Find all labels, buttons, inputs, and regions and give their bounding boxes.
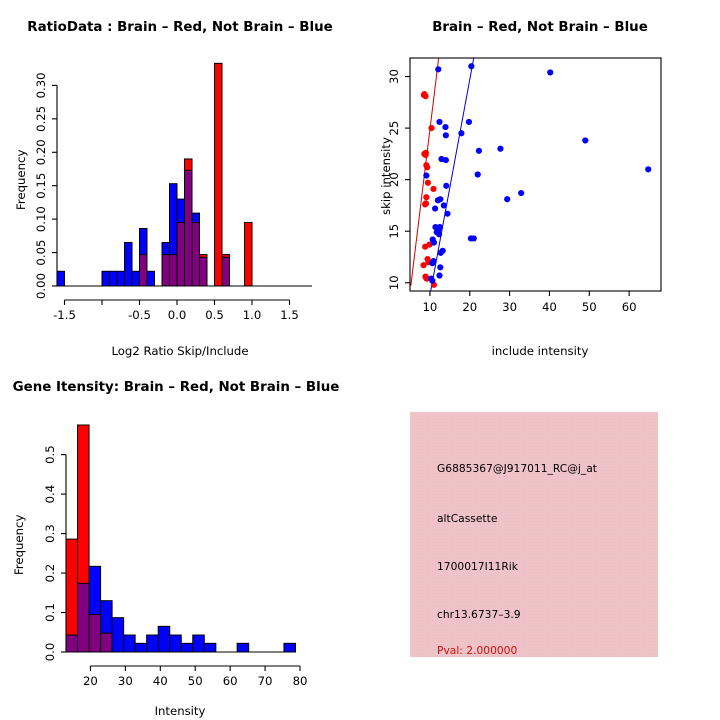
ratio-bar xyxy=(132,271,140,286)
gene-y-tick-label: 0.3 xyxy=(43,524,57,543)
ratio-bar xyxy=(117,271,125,286)
ratio-plot-area: 0.000.050.100.150.200.250.30-1.5-0.50.00… xyxy=(34,63,312,322)
ratio-bar xyxy=(57,271,65,286)
ratio-y-tick-label: 0.10 xyxy=(34,206,48,232)
scatter-xlabel: include intensity xyxy=(360,344,720,358)
scatter-point xyxy=(423,194,429,200)
locus-text: chr13.6737–3.9 xyxy=(437,608,521,621)
gene-x-tick-label: 40 xyxy=(153,674,168,688)
gene-bar xyxy=(124,635,136,652)
scatter-point xyxy=(645,166,651,172)
scatter-y-tick-label: 10 xyxy=(387,275,401,290)
scatter-ylabel: skip intensity xyxy=(379,137,393,215)
gene-x-tick-label: 20 xyxy=(83,674,98,688)
scatter-point xyxy=(497,146,503,152)
scatter-inner xyxy=(411,58,652,291)
scatter-point xyxy=(504,196,510,202)
ratio-bar-overlap xyxy=(185,170,193,286)
probe-id-text: G6885367@J917011_RC@j_at xyxy=(437,462,597,475)
gene-bar-overlap xyxy=(78,583,90,652)
scatter-point xyxy=(435,66,441,72)
ratio-x-tick-label: -0.5 xyxy=(128,308,151,322)
scatter-point xyxy=(423,172,429,178)
gene-bar xyxy=(204,643,216,652)
ratio-y-tick-label: 0.25 xyxy=(34,106,48,132)
scatter-point xyxy=(443,157,449,163)
scatter-point xyxy=(547,69,553,75)
scatter-y-tick-label: 25 xyxy=(387,121,401,136)
ratio-bar-overlap xyxy=(177,222,185,286)
gene-bar-overlap xyxy=(66,635,78,652)
ratio-y-tick-label: 0.05 xyxy=(34,240,48,266)
gene-y-tick-label: 0.0 xyxy=(43,643,57,662)
annotation-info-box: G6885367@J917011_RC@j_at altCassette 170… xyxy=(410,412,658,657)
scatter-point xyxy=(475,171,481,177)
scatter-frame xyxy=(410,58,661,291)
gene-y-tick-label: 0.2 xyxy=(43,564,57,583)
gene-plot-area: 0.00.10.20.30.40.520304050607080 xyxy=(43,425,307,688)
scatter-point xyxy=(422,273,428,279)
scatter-point xyxy=(428,125,434,131)
scatter-point xyxy=(471,235,477,241)
scatter-point xyxy=(436,119,442,125)
scatter-point xyxy=(437,264,443,270)
scatter-point xyxy=(430,258,436,264)
scatter-point xyxy=(441,202,447,208)
gene-x-tick-label: 70 xyxy=(258,674,273,688)
gene-histogram-ylabel: Frequency xyxy=(12,515,26,575)
gene-x-tick-label: 60 xyxy=(223,674,238,688)
panel-ratio-histogram: RatioData : Brain – Red, Not Brain – Blu… xyxy=(0,0,360,360)
scatter-point xyxy=(423,150,429,156)
gene-bar-overlap xyxy=(89,614,101,652)
ratio-histogram-svg: 0.000.050.100.150.200.250.30-1.5-0.50.00… xyxy=(0,0,360,360)
gene-bar xyxy=(135,643,147,652)
ratio-y-tick-label: 0.20 xyxy=(34,139,48,165)
gene-bar xyxy=(284,643,296,652)
gene-x-tick-label: 30 xyxy=(118,674,133,688)
gene-bar-overlap xyxy=(101,633,113,652)
scatter-point xyxy=(444,211,450,217)
scatter-point xyxy=(458,130,464,136)
scatter-point xyxy=(582,137,588,143)
scatter-y-tick-label: 15 xyxy=(387,224,401,239)
ratio-bar-overlap xyxy=(162,255,170,286)
scatter-svg: 1015202530102030405060 xyxy=(360,0,720,360)
ratio-bar-overlap xyxy=(192,222,200,286)
scatter-point xyxy=(421,92,427,98)
ratio-bar xyxy=(102,271,110,286)
ratio-bar-overlap xyxy=(140,255,148,286)
gene-y-tick-label: 0.5 xyxy=(43,445,57,464)
scatter-point xyxy=(437,196,443,202)
scatter-x-tick-label: 30 xyxy=(502,300,517,314)
ratio-x-tick-label: -1.5 xyxy=(53,308,76,322)
scatter-plot-area: 1015202530102030405060 xyxy=(387,58,661,314)
ratio-x-tick-label: 0.5 xyxy=(205,308,224,322)
scatter-point xyxy=(437,224,443,230)
scatter-x-tick-label: 50 xyxy=(582,300,597,314)
gene-bar xyxy=(170,635,182,652)
scatter-point xyxy=(422,244,428,250)
ratio-y-tick-label: 0.30 xyxy=(34,72,48,98)
ratio-y-tick-label: 0.00 xyxy=(34,273,48,299)
scatter-point xyxy=(443,132,449,138)
event-type-text: altCassette xyxy=(437,512,497,525)
ratio-bar xyxy=(215,63,223,286)
scatter-x-tick-label: 40 xyxy=(542,300,557,314)
scatter-point xyxy=(425,180,431,186)
gene-bar xyxy=(158,626,170,652)
gene-symbol-text: 1700017I11Rik xyxy=(437,560,518,573)
gene-x-tick-label: 50 xyxy=(188,674,203,688)
not-brain-fit-line xyxy=(431,58,474,291)
scatter-point xyxy=(518,190,524,196)
gene-bar xyxy=(112,618,124,652)
scatter-point xyxy=(423,200,429,206)
gene-bar xyxy=(181,643,193,652)
ratio-bar xyxy=(245,222,253,286)
figure-canvas: RatioData : Brain – Red, Not Brain – Blu… xyxy=(0,0,720,720)
scatter-point xyxy=(442,124,448,130)
scatter-point xyxy=(468,63,474,69)
scatter-y-tick-label: 30 xyxy=(387,69,401,84)
gene-histogram-xlabel: Intensity xyxy=(0,704,360,718)
pval-text: Pval: 2.000000 xyxy=(437,644,517,657)
scatter-x-tick-label: 10 xyxy=(422,300,437,314)
scatter-point xyxy=(436,272,442,278)
ratio-histogram-xlabel: Log2 Ratio Skip/Include xyxy=(0,344,360,358)
scatter-point xyxy=(476,148,482,154)
scatter-point xyxy=(438,250,444,256)
scatter-point xyxy=(443,183,449,189)
ratio-bar-overlap xyxy=(170,255,178,286)
gene-bar xyxy=(147,635,159,652)
scatter-point xyxy=(424,164,430,170)
panel-intensity-scatter: Brain – Red, Not Brain – Blue 1015202530… xyxy=(360,0,720,360)
panel-gene-intensity-histogram: Gene Itensity: Brain – Red, Not Brain – … xyxy=(0,360,360,720)
ratio-bar xyxy=(147,271,155,286)
gene-histogram-svg: 0.00.10.20.30.40.520304050607080 xyxy=(0,360,360,720)
ratio-bar-overlap xyxy=(200,257,208,286)
scatter-x-tick-label: 20 xyxy=(462,300,477,314)
ratio-histogram-ylabel: Frequency xyxy=(14,150,28,210)
gene-x-tick-label: 80 xyxy=(293,674,308,688)
ratio-bar xyxy=(110,271,118,286)
gene-bar xyxy=(237,643,249,652)
scatter-point xyxy=(466,119,472,125)
ratio-y-tick-label: 0.15 xyxy=(34,173,48,199)
ratio-x-tick-label: 0.0 xyxy=(168,308,187,322)
panel-annotation-info: G6885367@J917011_RC@j_at altCassette 170… xyxy=(360,360,720,720)
gene-y-tick-label: 0.4 xyxy=(43,485,57,504)
ratio-bar xyxy=(125,243,133,286)
gene-y-tick-label: 0.1 xyxy=(43,603,57,622)
scatter-point xyxy=(429,278,435,284)
scatter-point xyxy=(431,239,437,245)
ratio-x-tick-label: 1.5 xyxy=(280,308,299,322)
scatter-point xyxy=(432,205,438,211)
scatter-x-tick-label: 60 xyxy=(622,300,637,314)
ratio-x-tick-label: 1.0 xyxy=(243,308,262,322)
scatter-point xyxy=(436,231,442,237)
scatter-point xyxy=(430,186,436,192)
ratio-bar-overlap xyxy=(222,257,230,286)
gene-bar xyxy=(193,635,205,652)
